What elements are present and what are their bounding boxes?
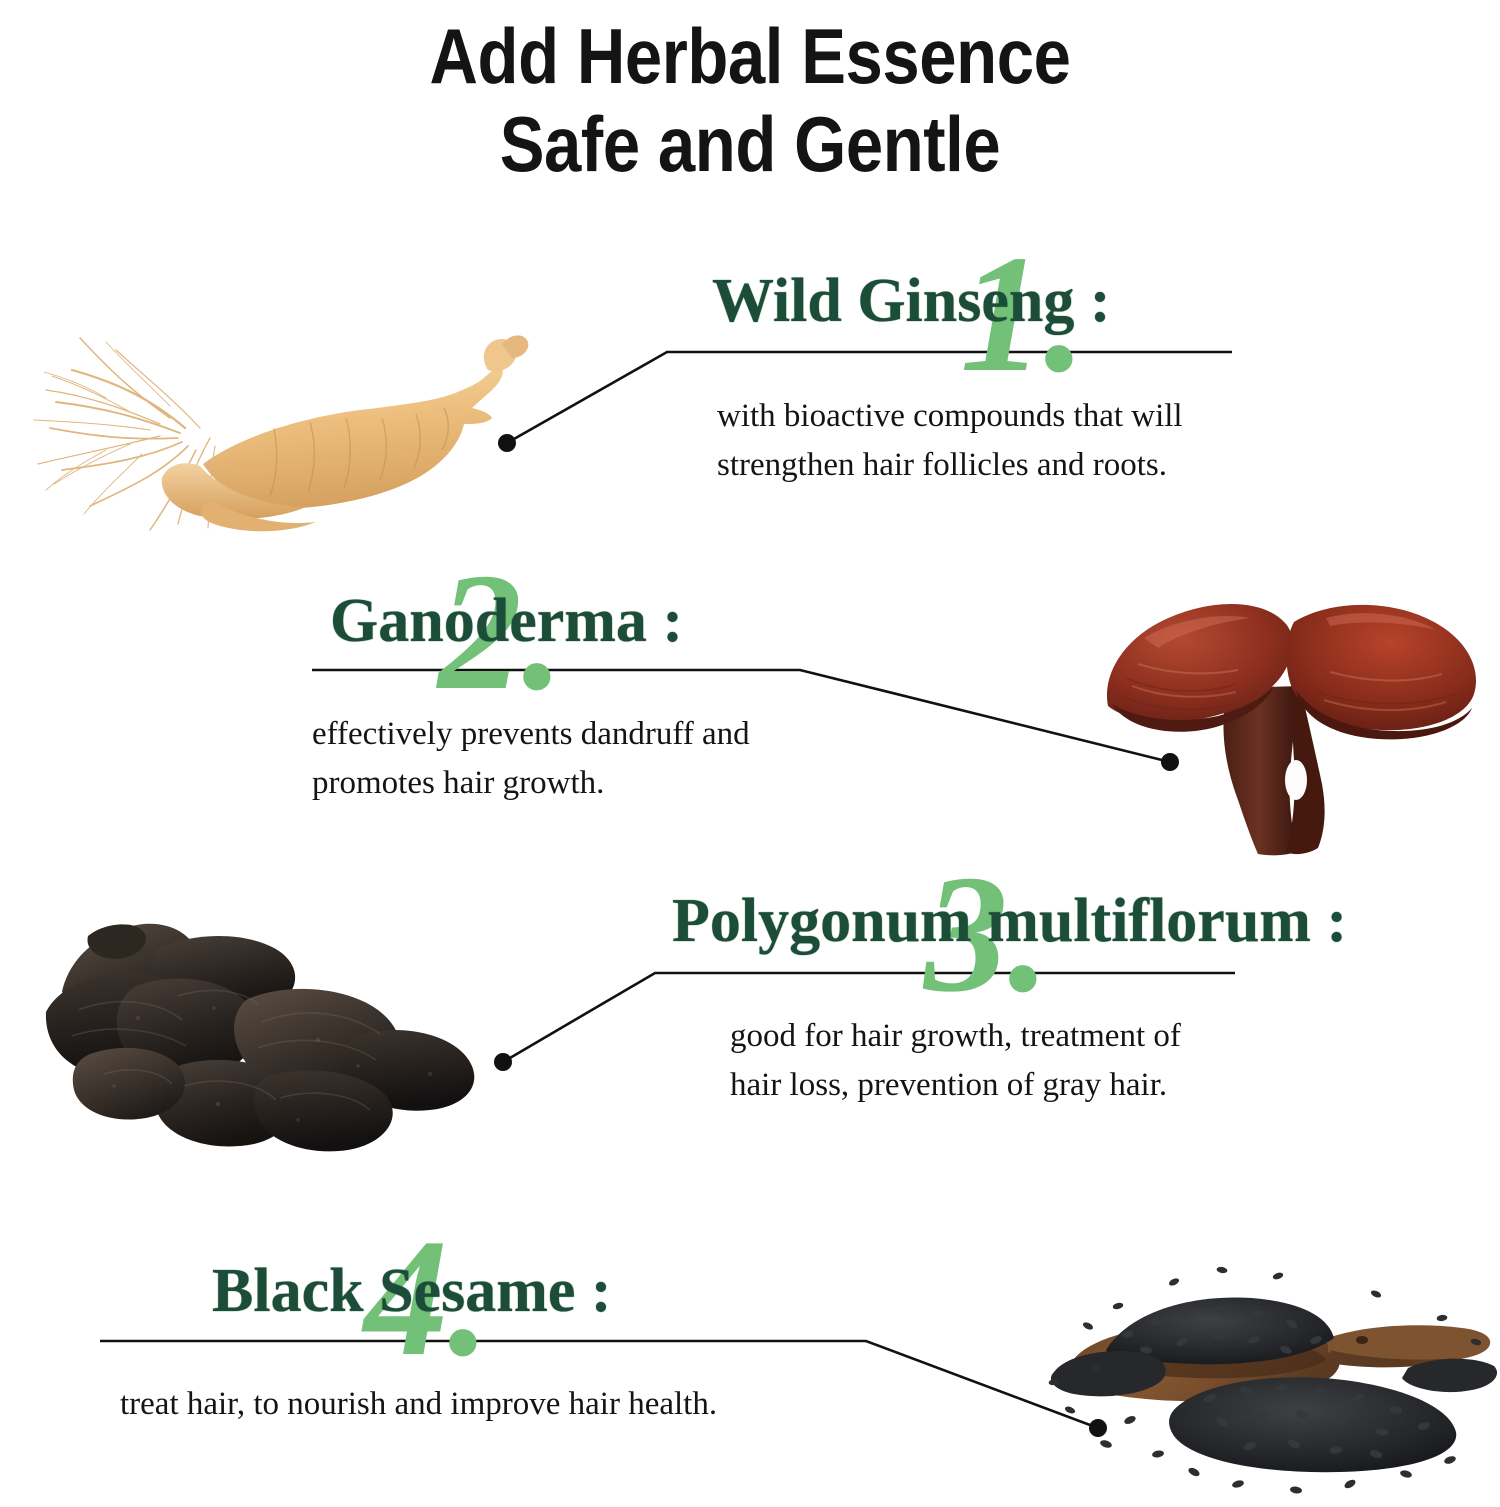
section-1-description: with bioactive compounds that will stren… — [717, 392, 1183, 490]
section-3-title: Polygonum multiflorum : — [672, 888, 1347, 954]
section-1-description-line-1: with bioactive compounds that will — [717, 392, 1183, 441]
section-3-description: good for hair growth, treatment of hair … — [730, 1012, 1347, 1110]
title-line-2: Safe and Gentle — [105, 100, 1395, 188]
section-4-title: Black Sesame : — [212, 1258, 717, 1324]
section-2-description: effectively prevents dandruff and promot… — [312, 710, 750, 808]
infographic-poster: Add Herbal Essence Safe and Gentle — [0, 0, 1500, 1500]
section-black-sesame: 4. Black Sesame : treat hair, to nourish… — [212, 1258, 717, 1429]
title-line-1: Add Herbal Essence — [105, 12, 1395, 100]
section-wild-ginseng: 1. Wild Ginseng : with bioactive compoun… — [712, 268, 1183, 490]
dried-root-slices-illustration — [18, 890, 538, 1180]
black-sesame-image — [1010, 1222, 1500, 1502]
section-1-title: Wild Ginseng : — [712, 268, 1183, 334]
section-2-description-line-2: promotes hair growth. — [312, 759, 750, 808]
ginseng-root-illustration — [10, 278, 540, 548]
section-4-heading-wrap: 4. Black Sesame : — [212, 1258, 717, 1324]
section-4-description: treat hair, to nourish and improve hair … — [120, 1380, 717, 1429]
ganoderma-mushroom-illustration — [1078, 568, 1490, 868]
page-title: Add Herbal Essence Safe and Gentle — [0, 12, 1500, 188]
section-4-description-line-1: treat hair, to nourish and improve hair … — [120, 1380, 717, 1429]
section-ganoderma: 2. Ganoderma : effectively prevents dand… — [330, 588, 750, 808]
section-2-heading-wrap: 2. Ganoderma : — [330, 588, 750, 654]
section-3-description-line-1: good for hair growth, treatment of — [730, 1012, 1347, 1061]
black-sesame-seeds-illustration — [1010, 1222, 1500, 1502]
ganoderma-image — [1078, 568, 1490, 868]
section-2-description-line-1: effectively prevents dandruff and — [312, 710, 750, 759]
section-3-heading-wrap: 3. Polygonum multiflorum : — [672, 888, 1347, 954]
section-1-heading-wrap: 1. Wild Ginseng : — [712, 268, 1183, 334]
section-1-description-line-2: strengthen hair follicles and roots. — [717, 441, 1183, 490]
polygonum-multiflorum-image — [18, 890, 538, 1180]
section-3-description-line-2: hair loss, prevention of gray hair. — [730, 1061, 1347, 1110]
wild-ginseng-image — [10, 278, 540, 548]
section-2-title: Ganoderma : — [330, 588, 750, 654]
section-polygonum-multiflorum: 3. Polygonum multiflorum : good for hair… — [672, 888, 1347, 1110]
